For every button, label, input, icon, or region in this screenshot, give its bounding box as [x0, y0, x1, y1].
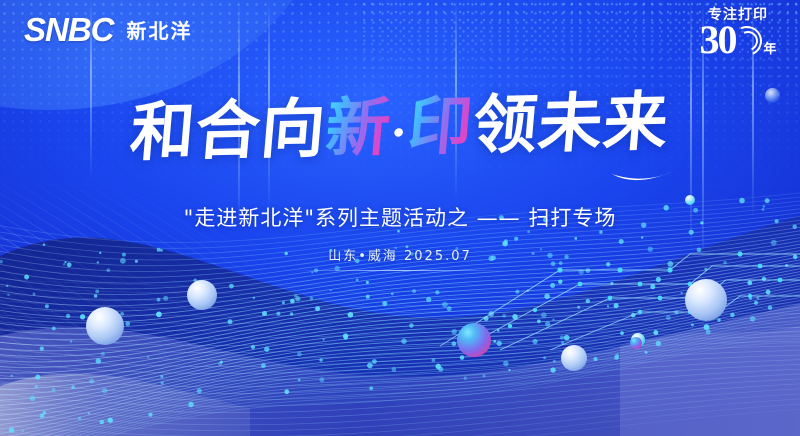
title-seg-1: 和合向: [128, 92, 330, 171]
meta-divider: [295, 270, 505, 271]
anniversary-badge: 专注打印 30 年: [690, 8, 786, 59]
sphere-pink-center: [457, 323, 491, 357]
page-subtitle: "走进新北洋"系列主题活动之 —— 扫打专场: [0, 202, 800, 232]
title-seg-4: 领未来: [471, 84, 673, 163]
calligraphy-tail-stroke: [612, 170, 674, 184]
title-seg-2: 新: [323, 90, 394, 166]
title-line: 和合向新·印领未来: [128, 90, 671, 165]
sphere-white-large-left: [86, 307, 124, 345]
badge-number: 30: [699, 21, 735, 59]
sphere-white-right: [685, 279, 727, 321]
sphere-white-right-center: [561, 345, 587, 371]
event-banner: SNBC 新北洋 专注打印 30 年 和合向新·印领未来 "走进新北洋"系列主题…: [0, 0, 800, 436]
title-seg-3: 印: [405, 88, 476, 164]
badge-unit: 年: [763, 38, 776, 57]
snbc-logo-icon: SNBC: [24, 13, 114, 46]
event-location-date: 山东•威海 2025.07: [0, 245, 800, 264]
brand-logo[interactable]: SNBC 新北洋: [24, 13, 193, 46]
page-title: 和合向新·印领未来: [0, 96, 800, 160]
sphere-magenta-small: [630, 337, 642, 349]
badge-number-row: 30 年: [690, 21, 786, 59]
swirl-ring-icon: [732, 26, 762, 56]
brand-name-cn: 新北洋: [127, 15, 193, 44]
event-meta: 山东•威海 2025.07: [0, 245, 800, 271]
sphere-white-mid: [187, 280, 217, 310]
